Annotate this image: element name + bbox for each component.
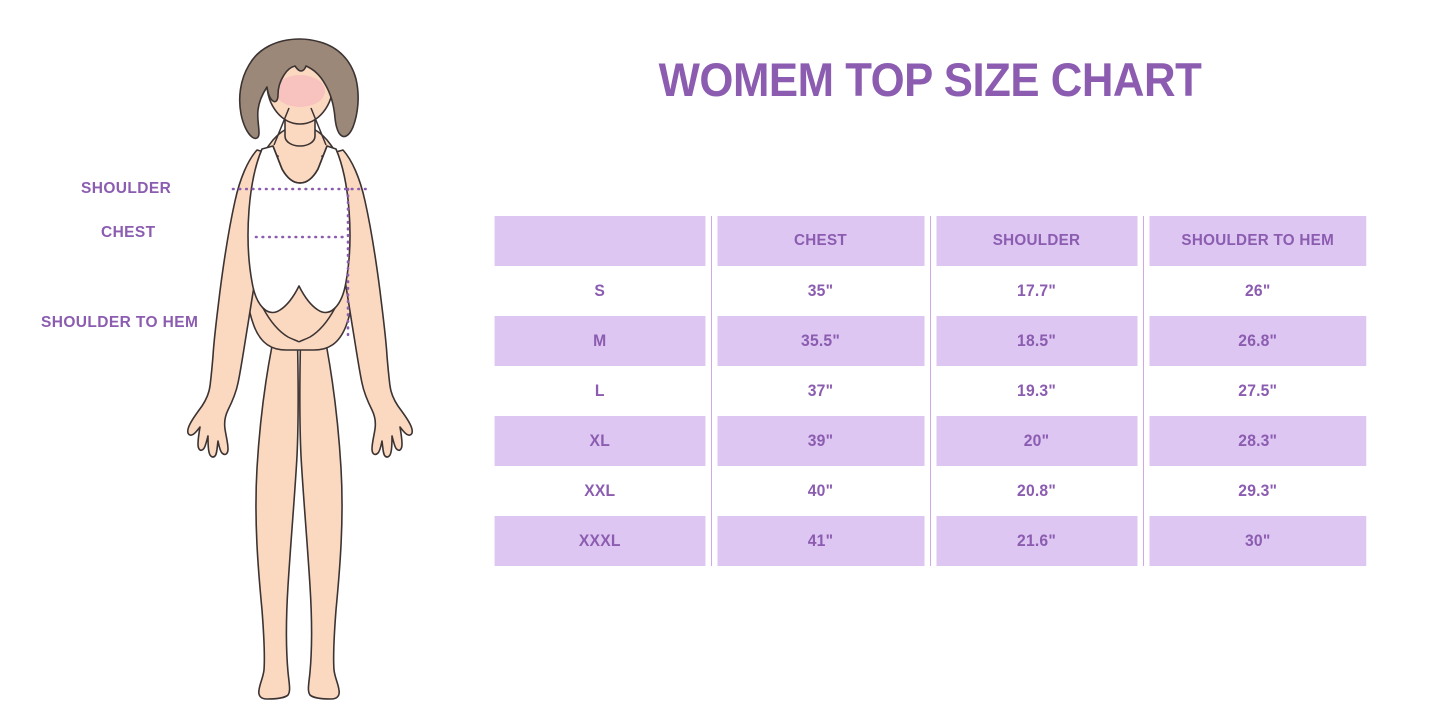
table-row: M 35.5" 18.5" 26.8" [489, 316, 1372, 366]
cell-size: XXL [495, 466, 706, 516]
cell-shoulder: 20.8" [935, 466, 1137, 516]
cell-chest: 39" [716, 416, 924, 466]
column-header-shoulder: SHOULDER [935, 216, 1137, 266]
cell-shoulder: 17.7" [935, 266, 1137, 316]
cell-shoulder: 20" [935, 416, 1137, 466]
female-body-illustration [168, 38, 434, 703]
page-title: WOMEM TOP SIZE CHART [521, 52, 1339, 107]
measure-label-shoulder-to-hem: SHOULDER TO HEM [41, 314, 198, 332]
cell-size: XL [495, 416, 706, 466]
left-leg [256, 314, 298, 699]
measure-label-shoulder: SHOULDER [81, 180, 171, 198]
cell-shoulder-to-hem: 26.8" [1149, 316, 1367, 366]
table-row: L 37" 19.3" 27.5" [489, 366, 1372, 416]
table-header-row: CHEST SHOULDER SHOULDER TO HEM [489, 216, 1372, 266]
table-body: S 35" 17.7" 26" M 35.5" 18.5" 26.8" L 37… [489, 266, 1372, 566]
cell-chest: 37" [716, 366, 924, 416]
cell-shoulder-to-hem: 26" [1149, 266, 1367, 316]
table-header: CHEST SHOULDER SHOULDER TO HEM [489, 216, 1372, 266]
cell-chest: 35.5" [716, 316, 924, 366]
cell-chest: 40" [716, 466, 924, 516]
table-row: XXXL 41" 21.6" 30" [489, 516, 1372, 566]
right-leg [300, 314, 342, 699]
cell-shoulder: 18.5" [935, 316, 1137, 366]
measure-label-chest: CHEST [101, 224, 156, 242]
cell-chest: 41" [716, 516, 924, 566]
cell-size: XXXL [495, 516, 706, 566]
cell-shoulder-to-hem: 27.5" [1149, 366, 1367, 416]
cell-shoulder-to-hem: 29.3" [1149, 466, 1367, 516]
cell-shoulder-to-hem: 30" [1149, 516, 1367, 566]
column-header-size [495, 216, 706, 266]
table-row: S 35" 17.7" 26" [489, 266, 1372, 316]
cell-shoulder: 19.3" [935, 366, 1137, 416]
cell-shoulder-to-hem: 28.3" [1149, 416, 1367, 466]
cell-size: S [495, 266, 706, 316]
cell-size: L [495, 366, 706, 416]
blush-cheeks [275, 75, 325, 107]
table-row: XXL 40" 20.8" 29.3" [489, 466, 1372, 516]
table-row: XL 39" 20" 28.3" [489, 416, 1372, 466]
cell-chest: 35" [716, 266, 924, 316]
cell-shoulder: 21.6" [935, 516, 1137, 566]
cell-size: M [495, 316, 706, 366]
column-header-chest: CHEST [716, 216, 924, 266]
size-chart-table: CHEST SHOULDER SHOULDER TO HEM S 35" 17.… [489, 216, 1372, 566]
figure-panel: SHOULDER CHEST SHOULDER TO HEM [0, 0, 470, 723]
column-header-shoulder-to-hem: SHOULDER TO HEM [1149, 216, 1367, 266]
